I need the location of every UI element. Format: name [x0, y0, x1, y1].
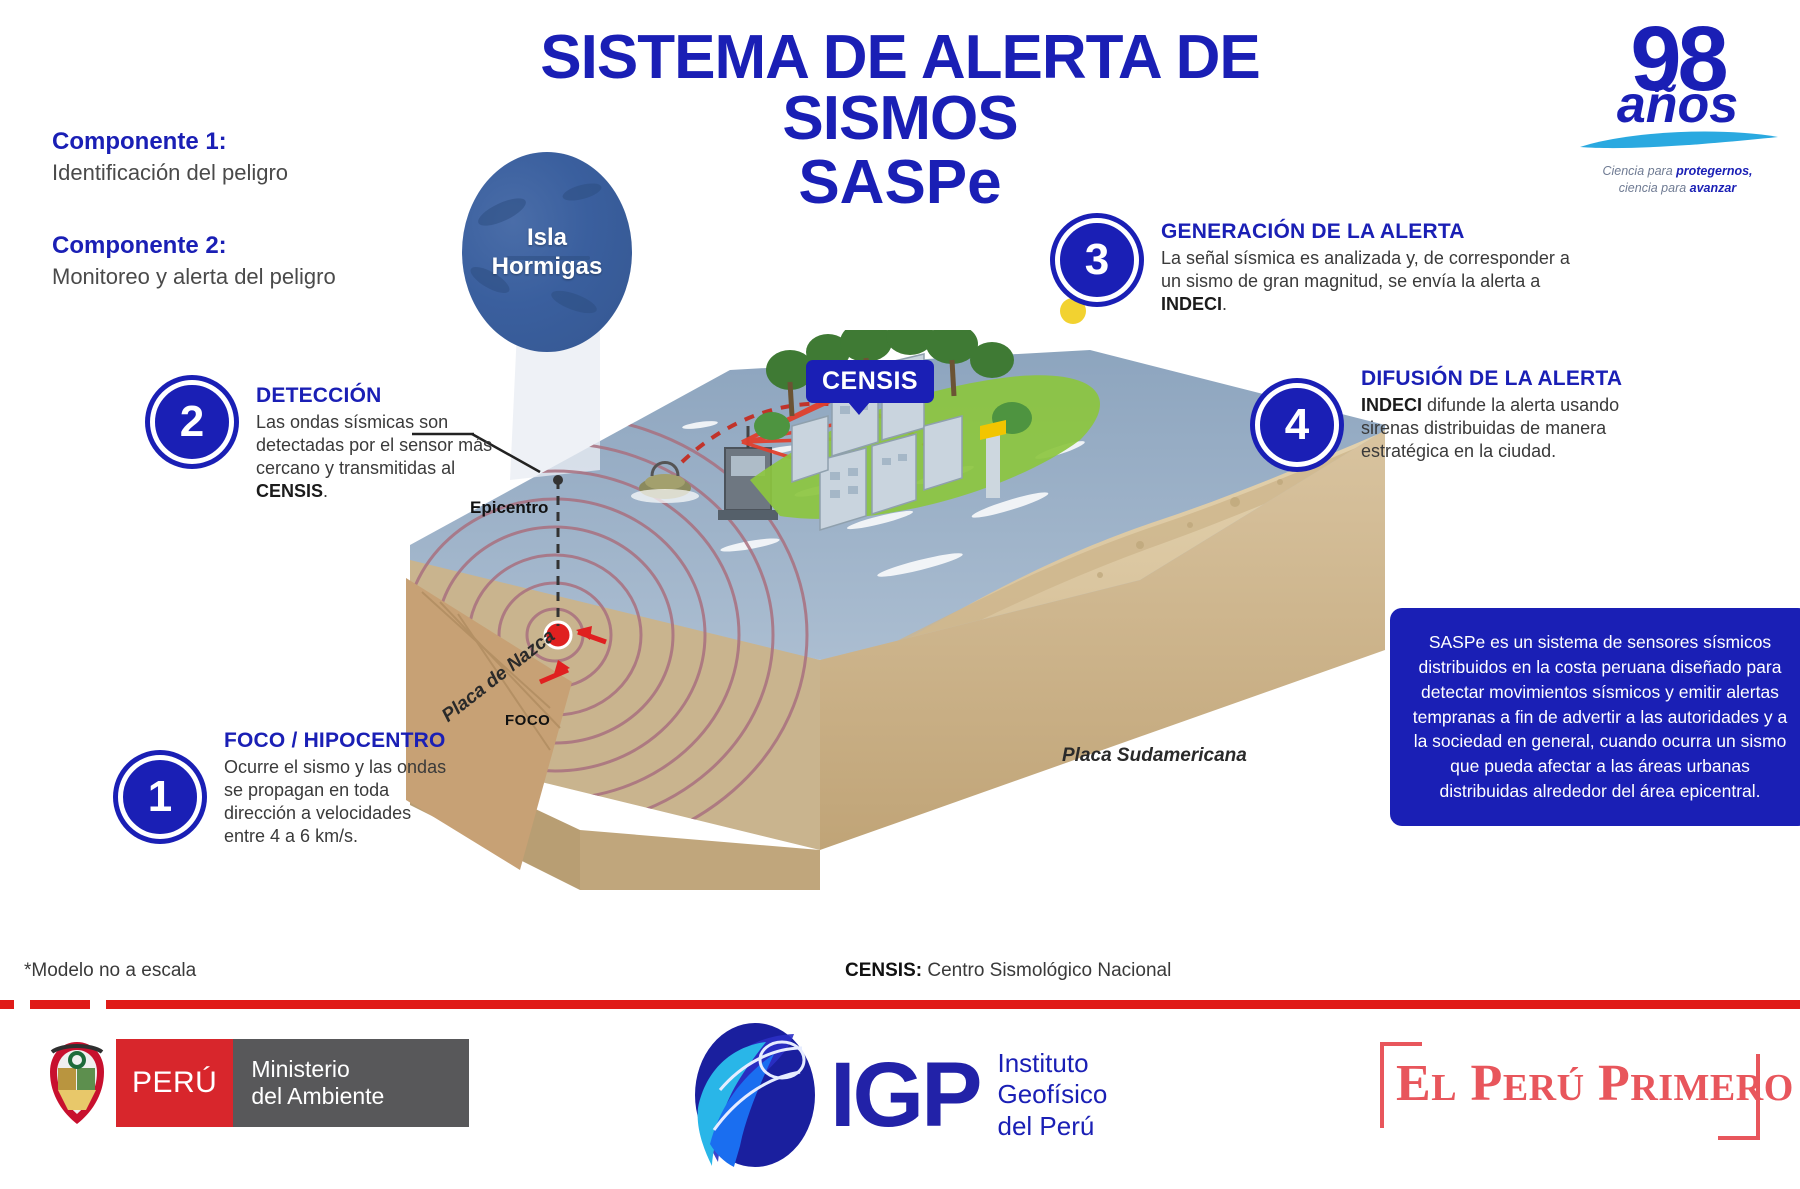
tagline-line1-plain: Ciencia para — [1602, 164, 1676, 178]
anniversary-logo: 98 años Ciencia para protegernos, cienci… — [1570, 18, 1785, 233]
peru-label: PERÚ — [116, 1039, 233, 1127]
ministry-line2: del Ambiente — [251, 1083, 384, 1110]
step-4-body: INDECI difunde la alerta usando sirenas … — [1361, 394, 1651, 463]
divider-line — [106, 1000, 1800, 1009]
component-2: Componente 2: Monitoreo y alerta del pel… — [52, 232, 336, 290]
divider-dash-1 — [0, 1000, 14, 1009]
divider-dash-2 — [30, 1000, 90, 1009]
component-2-subtitle: Monitoreo y alerta del peligro — [52, 264, 336, 290]
step-2-body-prefix: Las ondas sísmicas son detectadas por el… — [256, 412, 492, 478]
tagline-line2-bold: avanzar — [1690, 181, 1737, 195]
step-2-title: DETECCIÓN — [256, 384, 524, 408]
info-box: SASPe es un sistema de sensores sísmicos… — [1390, 608, 1800, 826]
igp-line3: del Perú — [997, 1111, 1107, 1142]
component-1: Componente 1: Identificación del peligro — [52, 128, 288, 186]
tagline-line2-plain: ciencia para — [1619, 181, 1690, 195]
peru-coat-of-arms-icon — [44, 1038, 110, 1128]
step-4-number: 4 — [1255, 383, 1339, 467]
step-2-body-bold: CENSIS — [256, 481, 323, 501]
slogan-text: EL PERÚ PRIMERO — [1396, 1054, 1794, 1113]
bracket-right-bottom — [1718, 1136, 1760, 1140]
step-3-body-prefix: La señal sísmica es analizada y, de corr… — [1161, 248, 1570, 291]
step-3-number: 3 — [1055, 218, 1139, 302]
censis-definition-bold: CENSIS: — [845, 960, 922, 981]
step-1-body-prefix: Ocurre el sismo y las ondas se propagan … — [224, 757, 446, 846]
slogan-rimero: RIMERO — [1630, 1067, 1793, 1109]
step-3-body-bold: INDECI — [1161, 294, 1222, 314]
step-2-number: 2 — [150, 380, 234, 464]
slogan-p1: P — [1471, 1055, 1503, 1112]
step-1-number: 1 — [118, 755, 202, 839]
ministry-logo: PERÚ Ministerio del Ambiente — [44, 1038, 469, 1128]
censis-definition-rest: Centro Sismológico Nacional — [922, 960, 1171, 981]
anniversary-years-word: años — [1570, 79, 1785, 131]
component-2-title: Componente 2: — [52, 232, 336, 260]
step-2: 2 DETECCIÓN Las ondas sísmicas son detec… — [150, 380, 524, 503]
slogan-p2: P — [1598, 1055, 1630, 1112]
isla-hormigas-bubble: Isla Hormigas — [462, 152, 632, 352]
igp-full-name: Instituto Geofísico del Perú — [997, 1048, 1107, 1142]
step-2-body: Las ondas sísmicas son detectadas por el… — [256, 411, 524, 503]
censis-tag: CENSIS — [806, 360, 934, 403]
bracket-left-vertical — [1380, 1042, 1384, 1128]
igp-globe-icon — [690, 1020, 820, 1170]
ministry-wordmark: PERÚ Ministerio del Ambiente — [116, 1039, 469, 1127]
bubble-label-line1: Isla — [527, 224, 567, 251]
el-peru-primero-logo: EL PERÚ PRIMERO — [1380, 1038, 1760, 1148]
step-3-body: La señal sísmica es analizada y, de corr… — [1161, 247, 1581, 316]
step-3: 3 GENERACIÓN DE LA ALERTA La señal sísmi… — [1055, 218, 1581, 316]
step-3-title: GENERACIÓN DE LA ALERTA — [1161, 220, 1581, 244]
foco-label: FOCO — [505, 712, 550, 729]
anniversary-tagline: Ciencia para protegernos, ciencia para a… — [1570, 163, 1785, 197]
title-line1: SISTEMA DE ALERTA DE SISMOS — [430, 28, 1370, 150]
slogan-l: L — [1431, 1067, 1457, 1109]
bubble-label: Isla Hormigas — [492, 223, 603, 282]
igp-logo: IGP Instituto Geofísico del Perú — [690, 1020, 1107, 1170]
ministry-line1: Ministerio — [251, 1056, 384, 1083]
step-1-body: Ocurre el sismo y las ondas se propagan … — [224, 756, 454, 848]
component-1-title: Componente 1: — [52, 128, 288, 156]
step-1-title: FOCO / HIPOCENTRO — [224, 729, 454, 753]
slogan-e: E — [1396, 1055, 1431, 1112]
placa-sudamericana-label: Placa Sudamericana — [1062, 745, 1247, 767]
censis-definition: CENSIS: Centro Sismológico Nacional — [845, 960, 1171, 982]
step-4-title: DIFUSIÓN DE LA ALERTA — [1361, 367, 1651, 391]
step-4: 4 DIFUSIÓN DE LA ALERTA INDECI difunde l… — [1255, 365, 1651, 467]
step-3-body-suffix: . — [1222, 294, 1227, 314]
step-1: 1 FOCO / HIPOCENTRO Ocurre el sismo y la… — [118, 725, 454, 848]
bubble-label-line2: Hormigas — [492, 253, 603, 280]
bracket-left-top — [1380, 1042, 1422, 1046]
igp-line1: Instituto — [997, 1048, 1107, 1079]
epicenter-marker — [553, 475, 563, 485]
igp-acronym: IGP — [830, 1054, 979, 1137]
info-box-text: SASPe es un sistema de sensores sísmicos… — [1413, 632, 1788, 801]
step-4-body-bold: INDECI — [1361, 395, 1422, 415]
igp-line2: Geofísico — [997, 1079, 1107, 1110]
step-2-body-suffix: . — [323, 481, 328, 501]
tagline-line1-bold: protegernos, — [1676, 164, 1752, 178]
component-1-subtitle: Identificación del peligro — [52, 160, 288, 186]
ministry-name: Ministerio del Ambiente — [233, 1039, 469, 1127]
scale-note: *Modelo no a escala — [24, 960, 196, 982]
slogan-eru: ERÚ — [1503, 1067, 1585, 1109]
censis-tag-wrapper: CENSIS — [806, 360, 934, 403]
